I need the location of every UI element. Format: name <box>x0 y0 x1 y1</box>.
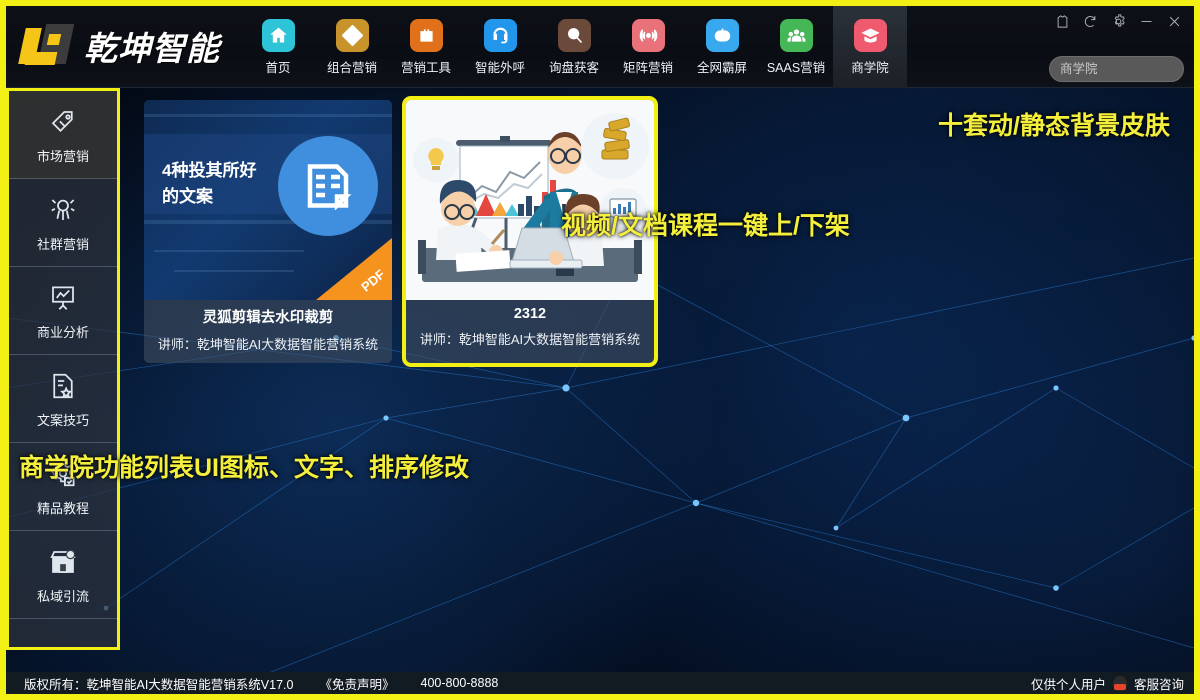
nav-item-business-school[interactable]: 商学院 <box>833 6 907 88</box>
qq-penguin-icon[interactable] <box>1113 676 1127 691</box>
sidebar-item-business-analysis[interactable]: 商业分析 <box>9 267 117 355</box>
nav-label: 首页 <box>265 57 290 76</box>
course-thumbnail: 4种投其所好 的文案 PDF <box>144 100 392 300</box>
sidebar-item-community-marketing[interactable]: 社群营销 <box>9 179 117 267</box>
course-title: 灵狐剪辑去水印裁剪 <box>148 306 388 327</box>
footer-phone: 400-800-8888 <box>421 676 499 690</box>
sidebar: 市场营销 社群营销 商业分析 文案技巧 <box>6 88 120 650</box>
sidebar-item-copywriting-skills[interactable]: 文案技巧 <box>9 355 117 443</box>
nav-item-smart-call[interactable]: 智能外呼 <box>463 6 537 88</box>
nav-label: 组合营销 <box>327 57 377 76</box>
nav-label: SAAS营销 <box>767 57 825 76</box>
nav-item-combo-marketing[interactable]: 组合营销 <box>315 6 389 88</box>
nav-item-inquiry[interactable]: 询盘获客 <box>537 6 611 88</box>
presentation-icon <box>48 281 78 315</box>
footer-right: 仅供个人用户 客服咨询 <box>1031 674 1184 693</box>
brand-logo[interactable]: 乾坤智能 <box>22 22 220 70</box>
course-instructor: 讲师：乾坤智能AI大数据智能营销系统 <box>148 334 388 353</box>
robot-icon <box>706 19 739 52</box>
main-nav: 首页 组合营销 营销工具 <box>241 6 907 88</box>
sidebar-item-label: 精品教程 <box>37 498 89 517</box>
nav-item-saas-marketing[interactable]: SAAS营销 <box>759 6 833 88</box>
sidebar-item-private-traffic[interactable]: 私域引流 <box>9 531 117 619</box>
inquiry-icon <box>558 19 591 52</box>
broadcast-icon <box>632 19 665 52</box>
sidebar-item-label: 社群营销 <box>37 234 89 253</box>
graduation-icon <box>854 19 887 52</box>
footer-notice: 仅供个人用户 <box>1031 674 1106 693</box>
minimize-icon[interactable] <box>1139 14 1154 34</box>
nav-label: 智能外呼 <box>475 57 525 76</box>
content-area: 市场营销 社群营销 商业分析 文案技巧 <box>6 88 1194 682</box>
footer-left: 版权所有：乾坤智能AI大数据智能营销系统V17.0 《免责声明》 400-800… <box>6 674 498 693</box>
footer-support-link[interactable]: 客服咨询 <box>1134 674 1184 693</box>
course-thumbnail <box>406 100 654 300</box>
combo-icon <box>336 19 369 52</box>
nav-label: 营销工具 <box>401 57 451 76</box>
course-caption: 2312 讲师：乾坤智能AI大数据智能营销系统 <box>406 300 654 358</box>
headset-icon <box>484 19 517 52</box>
tag-icon <box>48 105 78 139</box>
skin-icon[interactable] <box>1055 14 1070 34</box>
annotation-skins: 十套动/静态背景皮肤 <box>938 106 1170 142</box>
footer-bar: 版权所有：乾坤智能AI大数据智能营销系统V17.0 《免责声明》 400-800… <box>6 672 1194 694</box>
refresh-icon[interactable] <box>1083 14 1098 34</box>
logo-mark-icon <box>22 22 74 70</box>
sidebar-item-label: 商业分析 <box>37 322 89 341</box>
nav-label: 商学院 <box>851 57 889 76</box>
nav-label: 询盘获客 <box>549 57 599 76</box>
window-controls <box>1055 14 1182 34</box>
app-window: 乾坤智能 首页 组合营销 <box>0 0 1200 700</box>
nav-item-home[interactable]: 首页 <box>241 6 315 88</box>
course-card[interactable]: 4种投其所好 的文案 PDF 灵狐剪辑去水印裁剪 讲师：乾坤智能AI大数据智能营… <box>144 100 392 363</box>
sidebar-item-market-marketing[interactable]: 市场营销 <box>9 91 117 179</box>
community-icon <box>48 193 78 227</box>
document-icon <box>278 136 378 236</box>
nav-label: 全网霸屏 <box>697 57 747 76</box>
brand-name: 乾坤智能 <box>84 22 220 70</box>
pdf-badge: PDF <box>316 238 392 300</box>
footer-copyright: 版权所有：乾坤智能AI大数据智能营销系统V17.0 <box>24 674 293 693</box>
document-star-icon <box>48 369 78 403</box>
nav-item-matrix-marketing[interactable]: 矩阵营销 <box>611 6 685 88</box>
search-input[interactable] <box>1050 57 1184 81</box>
nav-item-marketing-tools[interactable]: 营销工具 <box>389 6 463 88</box>
sidebar-item-label: 私域引流 <box>37 586 89 605</box>
group-icon <box>780 19 813 52</box>
thumbnail-title: 4种投其所好 的文案 <box>162 158 256 211</box>
course-title: 2312 <box>410 306 650 322</box>
close-icon[interactable] <box>1167 14 1182 34</box>
footer-disclaimer-link[interactable]: 《免责声明》 <box>319 674 394 693</box>
home-icon <box>262 19 295 52</box>
meeting-illustration <box>406 100 654 300</box>
annotation-sidebar-list: 商学院功能列表UI图标、文字、排序修改 <box>19 448 469 484</box>
search-box[interactable] <box>1049 56 1184 82</box>
course-instructor: 讲师：乾坤智能AI大数据智能营销系统 <box>410 329 650 348</box>
nav-label: 矩阵营销 <box>623 57 673 76</box>
sidebar-item-label: 市场营销 <box>37 146 89 165</box>
toolbox-icon <box>410 19 443 52</box>
annotation-course-publish: 视频/文档课程一键上/下架 <box>561 206 850 242</box>
top-bar: 乾坤智能 首页 组合营销 <box>6 6 1194 88</box>
course-caption: 灵狐剪辑去水印裁剪 讲师：乾坤智能AI大数据智能营销系统 <box>144 300 392 363</box>
gear-icon[interactable] <box>1111 14 1126 34</box>
nav-item-full-network[interactable]: 全网霸屏 <box>685 6 759 88</box>
sidebar-item-label: 文案技巧 <box>37 410 89 429</box>
shop-icon <box>48 545 78 579</box>
